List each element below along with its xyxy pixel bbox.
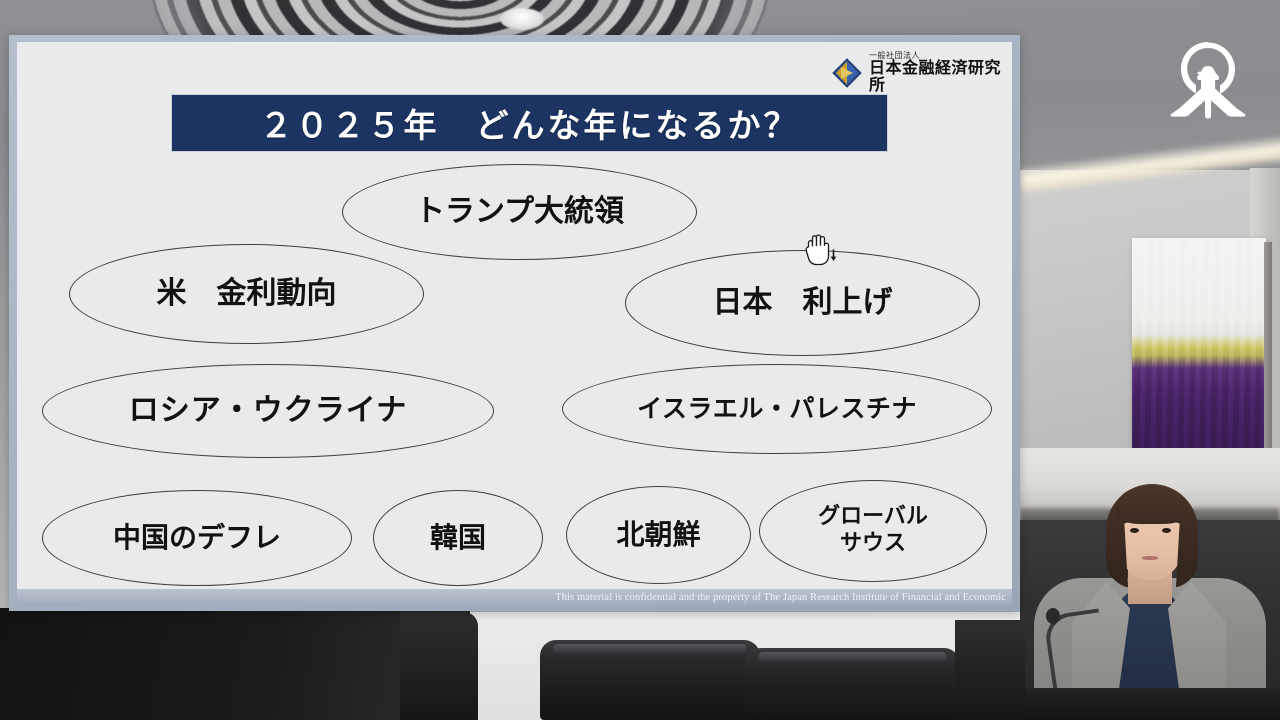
presenter-avatar [1020, 470, 1280, 720]
topic-ellipse-china-deflation[interactable]: 中国のデフレ [42, 490, 352, 586]
topic-label: トランプ大統領 [415, 194, 624, 231]
topic-ellipse-global-south[interactable]: グローバル サウス [759, 480, 987, 582]
slide-title-bar: ２０２５年 どんな年になるか？ [171, 94, 888, 152]
topic-label: グローバル サウス [818, 504, 928, 558]
topic-ellipse-north-korea[interactable]: 北朝鮮 [566, 486, 751, 584]
presenter-eye-left [1130, 528, 1139, 533]
presentation-slide: 一般社団法人 日本金融経済研究所 ２０２５年 どんな年になるか？ トランプ大統領… [17, 42, 1012, 605]
topic-ellipse-russia-ukraine[interactable]: ロシア・ウクライナ [42, 364, 494, 458]
screen: 一般社団法人 日本金融経済研究所 ２０２５年 どんな年になるか？ トランプ大統領… [0, 0, 1280, 720]
wall-artwork [1132, 238, 1266, 448]
confidentiality-note: This material is confidential and the pr… [17, 592, 1006, 603]
presenter-eye-right [1162, 528, 1171, 533]
institute-logo-name: 日本金融経済研究所 [869, 60, 1012, 94]
microphone-head-icon [1046, 608, 1060, 624]
topic-label: ロシア・ウクライナ [129, 393, 407, 430]
chair [400, 612, 478, 720]
topic-ellipse-us-rates[interactable]: 米 金利動向 [69, 244, 424, 344]
presenter-mouth [1142, 556, 1158, 560]
presenter-desk [1020, 688, 1280, 720]
topic-label: 米 金利動向 [157, 276, 337, 313]
chair [540, 640, 760, 720]
chair [745, 648, 960, 720]
person-in-circle-logo-icon [1164, 38, 1252, 134]
topic-label: 韓国 [430, 521, 486, 555]
ceiling-downlight [500, 8, 544, 30]
topic-label: 中国のデフレ [113, 521, 281, 555]
topic-ellipse-trump[interactable]: トランプ大統領 [342, 164, 697, 260]
slide-frame: 一般社団法人 日本金融経済研究所 ２０２５年 どんな年になるか？ トランプ大統領… [9, 35, 1020, 611]
topic-label: 北朝鮮 [616, 518, 700, 552]
topic-label: 日本 利上げ [713, 285, 893, 322]
diamond-logo-icon [832, 58, 862, 88]
topic-ellipse-korea[interactable]: 韓国 [373, 490, 543, 586]
topic-ellipse-jp-hike[interactable]: 日本 利上げ [625, 250, 980, 356]
chair [955, 620, 1025, 720]
topic-ellipse-israel-palestine[interactable]: イスラエル・パレスチナ [562, 364, 992, 454]
topic-label: イスラエル・パレスチナ [637, 394, 917, 425]
presenter-bangs [1115, 488, 1188, 524]
institute-logo: 一般社団法人 日本金融経済研究所 [832, 52, 1012, 94]
wall-artwork-edge [1264, 242, 1272, 448]
page-title: ２０２５年 どんな年になるか？ [260, 99, 800, 147]
